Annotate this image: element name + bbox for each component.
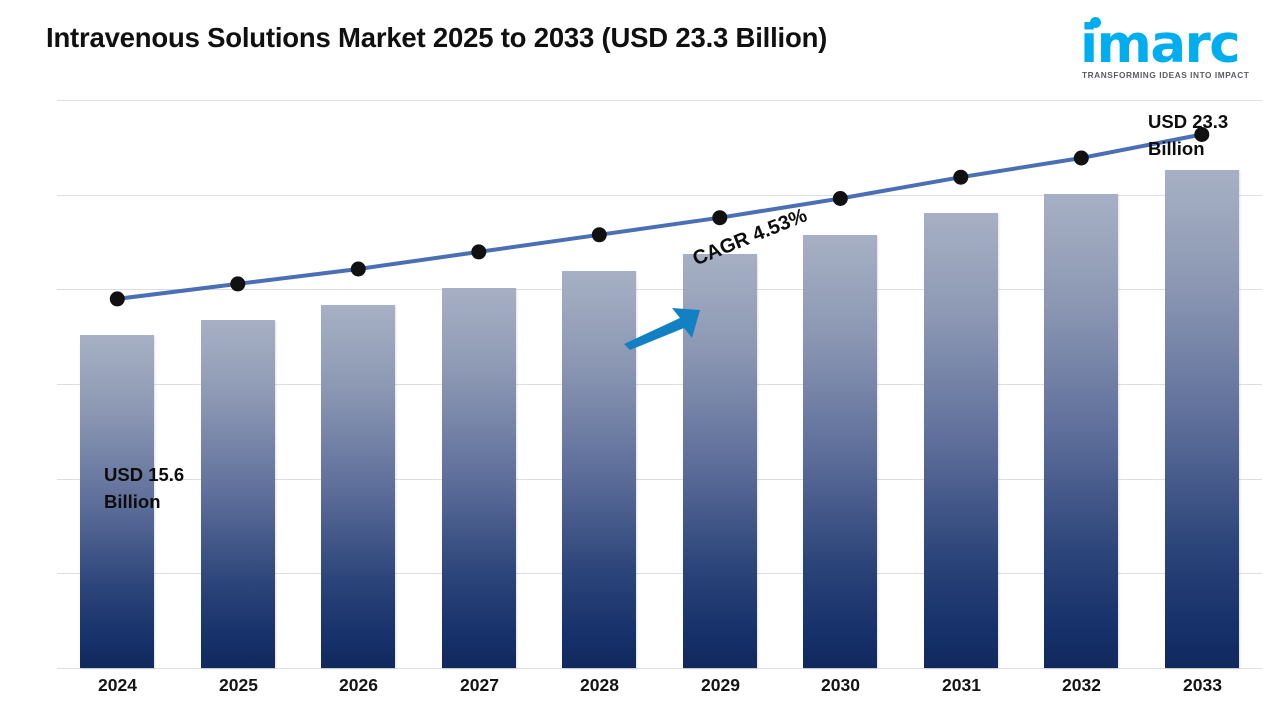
data-point-2029 — [712, 210, 727, 225]
data-point-2031 — [953, 170, 968, 185]
data-point-2032 — [1074, 151, 1089, 166]
start-value-line2: Billion — [104, 488, 184, 515]
data-point-2028 — [592, 227, 607, 242]
trend-arrow-icon — [622, 300, 702, 350]
chart-plot-area: 2024202520262027202820292030203120322033… — [0, 0, 1280, 720]
data-point-2026 — [351, 262, 366, 277]
data-point-2025 — [230, 276, 245, 291]
end-value-line2: Billion — [1148, 135, 1228, 162]
end-value-line1: USD 23.3 — [1148, 108, 1228, 135]
chart-page: Intravenous Solutions Market 2025 to 203… — [0, 0, 1280, 720]
data-point-2027 — [471, 244, 486, 259]
end-value-callout: USD 23.3 Billion — [1148, 108, 1228, 162]
start-value-callout: USD 15.6 Billion — [104, 461, 184, 515]
data-point-2030 — [833, 191, 848, 206]
start-value-line1: USD 15.6 — [104, 461, 184, 488]
trend-line-series — [0, 0, 1280, 720]
data-point-2024 — [110, 291, 125, 306]
